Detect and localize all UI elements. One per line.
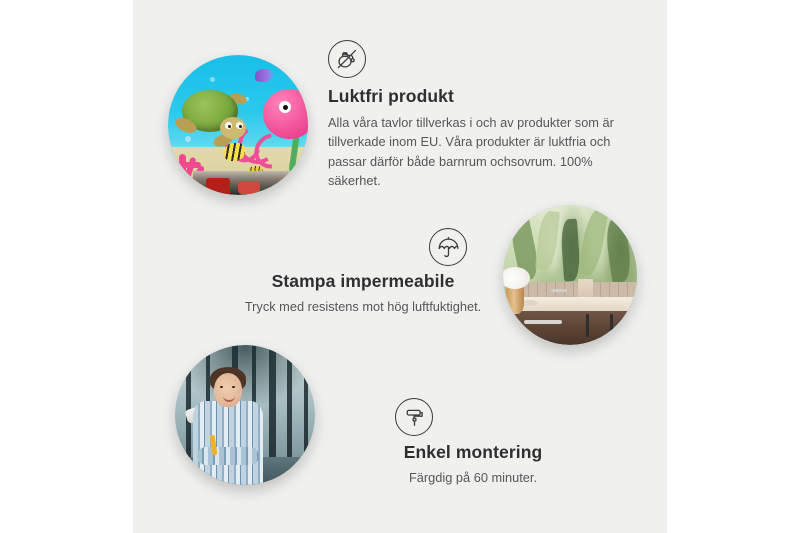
cabinet-handle-shape xyxy=(610,314,613,336)
feature-title: Stampa impermeabile xyxy=(198,271,528,292)
underwater-cartoon-photo xyxy=(168,55,308,195)
feature-waterproof: Stampa impermeabile Tryck med resistens … xyxy=(198,228,528,316)
turtle-pupil-shape xyxy=(239,125,242,128)
feature-title: Enkel montering xyxy=(323,442,623,463)
woman-painter-forest-photo xyxy=(175,345,315,485)
feature-odourless: Luktfri produkt Alla våra tavlor tillver… xyxy=(328,40,624,191)
paint-roller-icon xyxy=(395,398,433,436)
content-panel: Luktfri produkt Alla våra tavlor tillver… xyxy=(133,0,667,533)
eye-shape xyxy=(220,386,223,388)
foreground-red-object xyxy=(238,181,260,194)
cabinet-handle-shape xyxy=(586,314,589,336)
vanity-cabinet-shape xyxy=(514,311,637,345)
feature-body: Tryck med resistens mot hög luftfuktighe… xyxy=(198,297,528,316)
feature-easy-mounting: Enkel montering Färgdig på 60 minuter. xyxy=(323,398,623,487)
eye-shape xyxy=(232,386,235,388)
purple-fish-shape xyxy=(255,69,273,82)
umbrella-icon xyxy=(429,228,467,266)
drawer-pull-shape xyxy=(524,320,562,324)
feature-title: Luktfri produkt xyxy=(328,86,624,107)
faucet-shape xyxy=(551,289,567,292)
foreground-red-object xyxy=(206,178,230,193)
feature-body: Alla våra tavlor tillverkas i och av pro… xyxy=(328,113,624,191)
octopus-pupil-shape xyxy=(283,105,288,110)
folded-arm-shape xyxy=(197,447,259,465)
plaid-shirt-shape xyxy=(193,401,263,485)
no-odour-icon xyxy=(328,40,366,78)
feature-body: Färgdig på 60 minuter. xyxy=(323,468,623,487)
